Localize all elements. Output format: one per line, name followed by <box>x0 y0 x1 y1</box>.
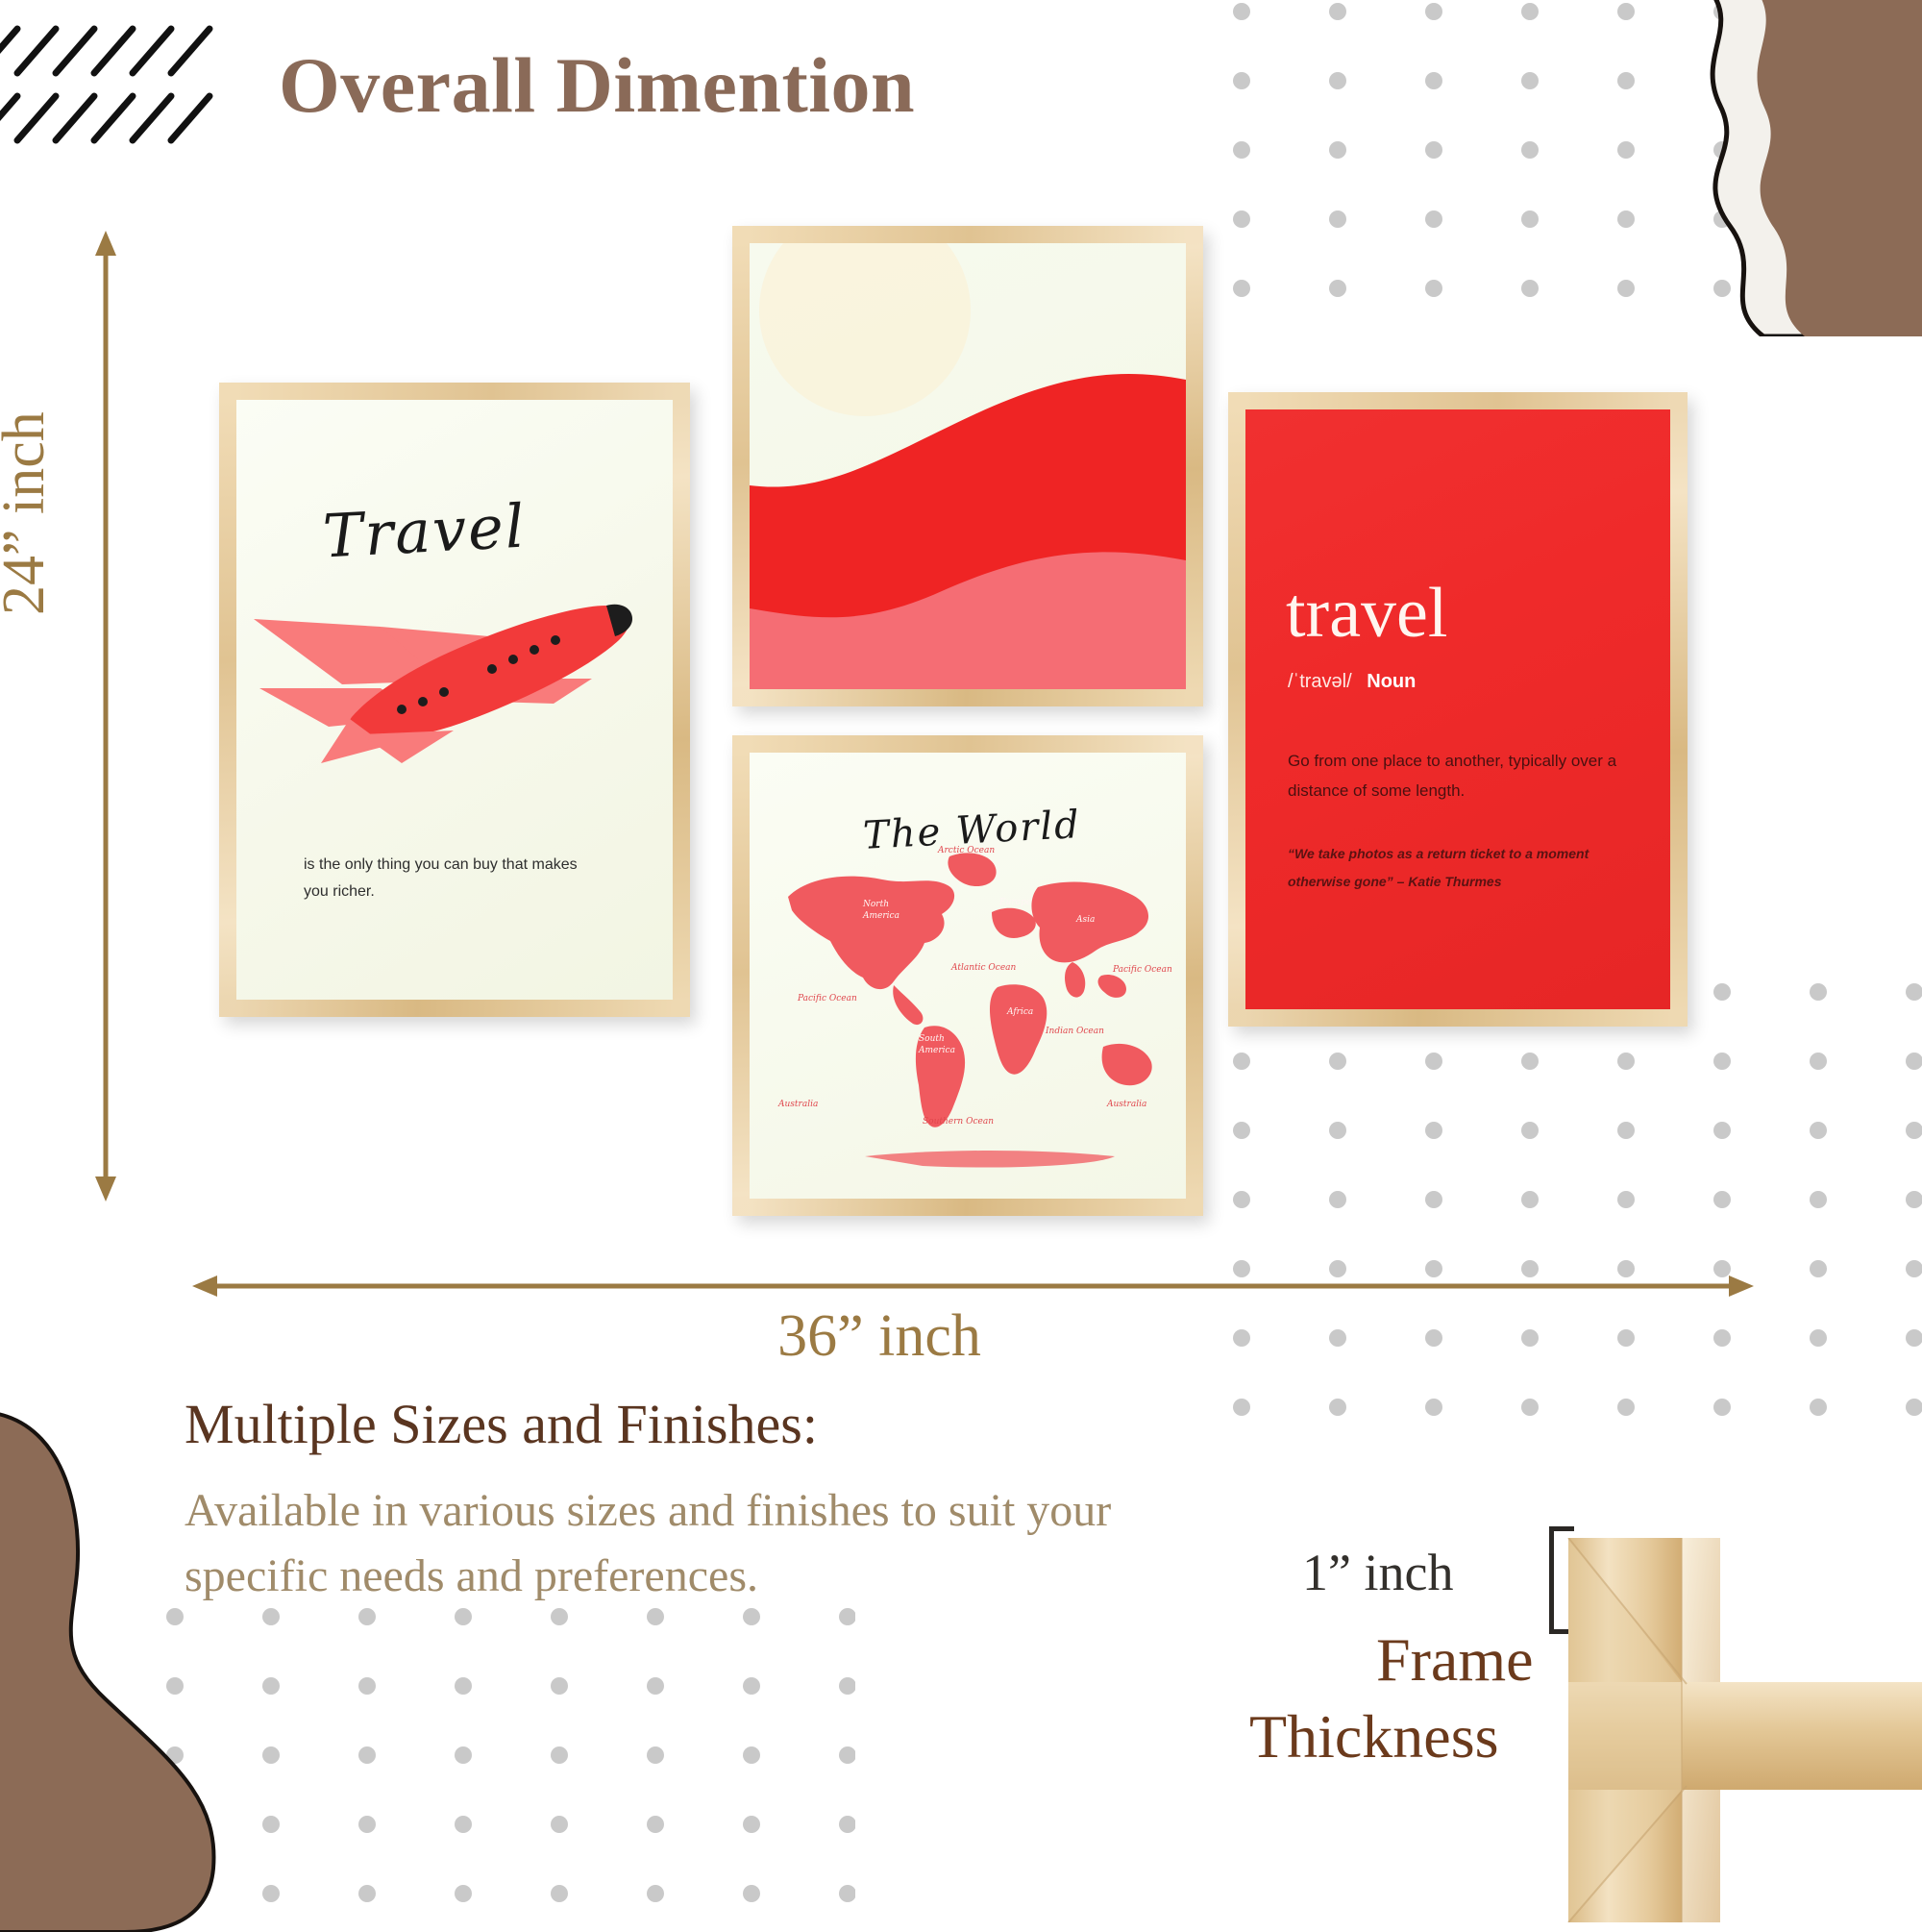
frame-thickness-label-line2: Thickness <box>1249 1701 1499 1772</box>
map-label-europe: Europe <box>998 898 1031 907</box>
poster-caption-travel: is the only thing you can buy that makes… <box>304 852 592 905</box>
definition-quote-line1: “We take photos as a return ticket to a … <box>1288 840 1614 868</box>
map-label-south-america: South <box>919 1034 945 1044</box>
svg-text:America: America <box>918 1046 955 1055</box>
abstract-wave-illustration-icon <box>750 243 1186 689</box>
infographic-canvas: Overall Dimention 24” inch <box>0 0 1922 1922</box>
poster-title-travel: Travel <box>321 491 528 572</box>
svg-text:America: America <box>862 911 899 921</box>
section-title: Multiple Sizes and Finishes: <box>185 1392 818 1456</box>
brown-blob-bottom-left <box>0 1394 327 1932</box>
map-label-australia: Australia <box>1106 1100 1146 1109</box>
map-label-australia-left: Australia <box>777 1100 818 1109</box>
definition-quote: “We take photos as a return ticket to a … <box>1288 840 1614 897</box>
definition-quote-line2: otherwise gone” – Katie Thurmes <box>1288 868 1614 896</box>
brown-blob-top-right <box>1595 0 1922 336</box>
definition-text: Go from one place to another, typically … <box>1288 746 1663 806</box>
width-dimension-arrow <box>192 1267 1754 1305</box>
dot-grid-bottom-left <box>163 1605 855 1922</box>
frame-thickness-value: 1” inch <box>1302 1543 1453 1602</box>
map-label-asia: Asia <box>1075 915 1095 925</box>
height-dimension-label: 24” inch <box>0 411 59 615</box>
framed-poster-world-map[interactable]: The World <box>732 735 1203 1216</box>
height-dimension-arrow <box>86 231 125 1201</box>
airplane-illustration-icon <box>236 400 673 1000</box>
page-title: Overall Dimention <box>279 40 915 131</box>
poster-world-map-art: The World <box>750 753 1186 1199</box>
map-label-indian-ocean: Indian Ocean <box>1045 1027 1104 1036</box>
diagonal-stripes-icon <box>0 17 231 152</box>
map-label-pacific-ocean: Pacific Ocean <box>797 994 857 1003</box>
map-label-southern-ocean: Southern Ocean <box>923 1117 994 1127</box>
map-label-pacific-ocean-east: Pacific Ocean <box>1112 965 1172 975</box>
framed-poster-travel-definition[interactable]: travel /ˈtravəl/ Noun Go from one place … <box>1228 392 1688 1027</box>
definition-part-of-speech: Noun <box>1367 671 1416 692</box>
poster-abstract-waves-art <box>750 243 1186 689</box>
section-body: Available in various sizes and finishes … <box>185 1478 1222 1609</box>
map-label-africa: Africa <box>1006 1007 1033 1017</box>
frame-thickness-label-line1: Frame <box>1376 1624 1534 1696</box>
definition-phonetic-text: /ˈtravəl/ <box>1288 671 1352 692</box>
map-label-atlantic-ocean: Atlantic Ocean <box>950 963 1017 973</box>
map-label-north-america: North <box>862 900 889 909</box>
frame-corner-sample <box>1518 1538 1922 1922</box>
width-dimension-label: 36” inch <box>0 1302 1759 1371</box>
framed-poster-travel-airplane[interactable]: Travel is the only thing you can buy tha… <box>219 383 690 1017</box>
dot-grid-top-right <box>1230 0 1922 317</box>
framed-poster-abstract-waves[interactable] <box>732 226 1203 706</box>
definition-word: travel <box>1286 573 1447 655</box>
poster-travel-airplane-art: Travel is the only thing you can buy tha… <box>236 400 673 1000</box>
poster-travel-definition-art: travel /ˈtravəl/ Noun Go from one place … <box>1245 409 1670 1009</box>
definition-phonetic: /ˈtravəl/ Noun <box>1288 671 1416 693</box>
